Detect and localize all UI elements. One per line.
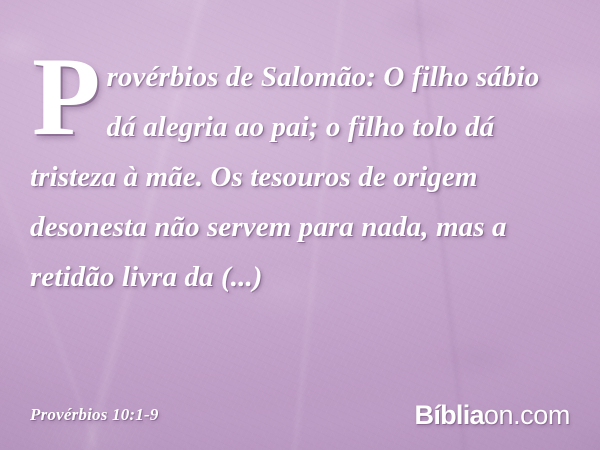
brand-logo-primary: Bíblia xyxy=(415,400,484,431)
card-content: Provérbios de Salomão: O filho sábio dá … xyxy=(0,0,600,450)
brand-logo-suffix: on.com xyxy=(484,400,570,431)
verse-text: Provérbios de Salomão: O filho sábio dá … xyxy=(30,52,570,302)
brand-logo[interactable]: Bíbliaon.com xyxy=(415,400,570,431)
verse-card: Provérbios de Salomão: O filho sábio dá … xyxy=(0,0,600,450)
card-footer: Provérbios 10:1-9 Bíbliaon.com xyxy=(0,384,600,450)
verse-block: Provérbios de Salomão: O filho sábio dá … xyxy=(30,52,570,302)
verse-reference: Provérbios 10:1-9 xyxy=(30,405,159,425)
